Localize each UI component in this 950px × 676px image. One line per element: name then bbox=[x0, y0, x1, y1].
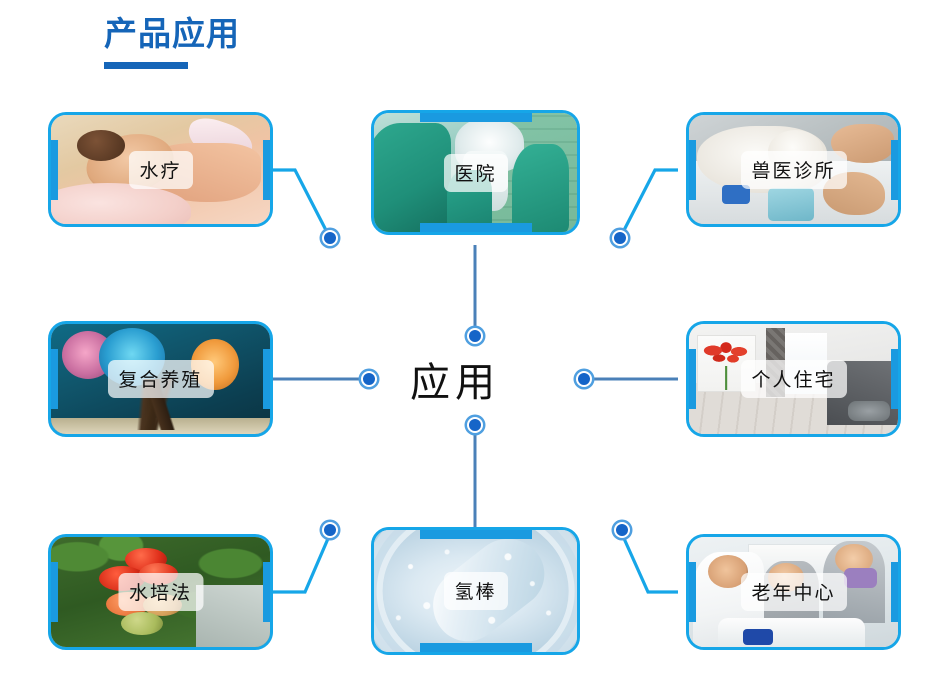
connector-node-hydrogenrod bbox=[465, 415, 486, 436]
card-hydroponics[interactable]: 水培法 bbox=[48, 534, 273, 650]
card-tab-right-residence bbox=[891, 349, 901, 409]
card-tab-left-senior bbox=[686, 562, 696, 622]
card-tab-top-hydrogenrod bbox=[420, 527, 532, 539]
card-tab-top-hospital bbox=[420, 110, 532, 122]
card-label-residence: 个人住宅 bbox=[740, 360, 846, 398]
connector-node-hospital bbox=[465, 326, 486, 347]
card-tab-left-aquaculture bbox=[48, 349, 58, 409]
card-tab-left-hydroponics bbox=[48, 562, 58, 622]
card-label-spa: 水疗 bbox=[128, 151, 192, 189]
connector-node-aquaculture bbox=[359, 369, 380, 390]
card-label-hospital: 医院 bbox=[443, 154, 507, 192]
card-tab-bottom-hydrogenrod bbox=[420, 643, 532, 655]
card-tab-right-spa bbox=[263, 140, 273, 200]
connector-node-hydroponics bbox=[320, 520, 341, 541]
card-label-hydrogenrod: 氢棒 bbox=[443, 572, 507, 610]
card-label-aquaculture: 复合养殖 bbox=[107, 360, 213, 398]
card-aquaculture[interactable]: 复合养殖 bbox=[48, 321, 273, 437]
card-tab-right-hydroponics bbox=[263, 562, 273, 622]
card-tab-left-spa bbox=[48, 140, 58, 200]
card-hydrogenrod[interactable]: 氢棒 bbox=[371, 527, 580, 655]
center-label: 应用 bbox=[410, 350, 500, 408]
card-tab-left-vet bbox=[686, 140, 696, 200]
card-vet[interactable]: 兽医诊所 bbox=[686, 112, 901, 227]
connector-spa bbox=[272, 170, 330, 238]
connector-node-spa bbox=[320, 228, 341, 249]
connector-vet bbox=[620, 170, 678, 238]
card-senior[interactable]: 老年中心 bbox=[686, 534, 901, 650]
card-spa[interactable]: 水疗 bbox=[48, 112, 273, 227]
card-tab-right-senior bbox=[891, 562, 901, 622]
card-tab-left-residence bbox=[686, 349, 696, 409]
connector-hydroponics bbox=[272, 534, 330, 592]
card-tab-right-aquaculture bbox=[263, 349, 273, 409]
connector-senior bbox=[622, 534, 678, 592]
connector-node-vet bbox=[610, 228, 631, 249]
card-hospital[interactable]: 医院 bbox=[371, 110, 580, 235]
card-label-senior: 老年中心 bbox=[740, 573, 846, 611]
product-application-diagram: 产品应用 bbox=[0, 0, 950, 676]
card-tab-bottom-hospital bbox=[420, 223, 532, 235]
connector-node-residence bbox=[574, 369, 595, 390]
card-residence[interactable]: 个人住宅 bbox=[686, 321, 901, 437]
card-label-vet: 兽医诊所 bbox=[740, 151, 846, 189]
connector-node-senior bbox=[612, 520, 633, 541]
card-label-hydroponics: 水培法 bbox=[118, 573, 203, 611]
card-tab-right-vet bbox=[891, 140, 901, 200]
